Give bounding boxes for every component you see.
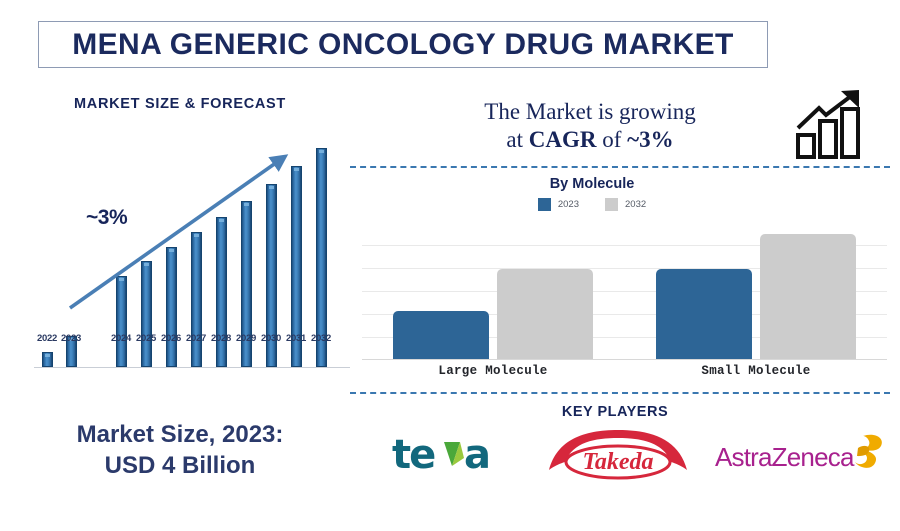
cagr-statement: The Market is growing at CAGR of ~3% bbox=[400, 98, 780, 154]
molecule-plot-area bbox=[362, 222, 887, 360]
molecule-category-label: Small Molecule bbox=[641, 364, 871, 378]
cagr-keyword: CAGR bbox=[529, 127, 597, 152]
legend-swatch bbox=[538, 198, 551, 211]
molecule-chart-legend: 20232032 bbox=[352, 198, 832, 211]
key-players-logo-row: te a Takeda AstraZeneca bbox=[390, 424, 890, 484]
molecule-bar bbox=[760, 234, 856, 359]
astrazeneca-logo-mark: AstraZeneca bbox=[715, 430, 890, 478]
molecule-bar bbox=[393, 311, 489, 359]
forecast-bar bbox=[141, 261, 152, 367]
molecule-axis-line bbox=[362, 359, 887, 360]
cagr-value: ~3% bbox=[627, 127, 673, 152]
molecule-category-label: Large Molecule bbox=[378, 364, 608, 378]
molecule-bar bbox=[497, 269, 593, 359]
key-players-title: KEY PLAYERS bbox=[460, 404, 770, 420]
forecast-bar bbox=[42, 352, 53, 367]
molecule-bar bbox=[656, 269, 752, 359]
forecast-year-label: 2023 bbox=[54, 333, 88, 344]
teva-logo-mark: te a bbox=[390, 428, 520, 480]
cagr-middle: of bbox=[596, 127, 627, 152]
legend-swatch bbox=[605, 198, 618, 211]
chart-baseline bbox=[34, 367, 350, 368]
page-title: MENA GENERIC ONCOLOGY DRUG MARKET bbox=[72, 28, 734, 62]
by-molecule-chart: By Molecule 20232032 Large MoleculeSmall… bbox=[352, 174, 892, 390]
page-title-box: MENA GENERIC ONCOLOGY DRUG MARKET bbox=[38, 21, 768, 68]
market-size-line-2: USD 4 Billion bbox=[30, 451, 330, 482]
forecast-bar bbox=[166, 247, 177, 367]
forecast-bar bbox=[216, 217, 227, 367]
svg-text:a: a bbox=[464, 432, 489, 478]
cagr-line-1: The Market is growing bbox=[400, 98, 780, 126]
astrazeneca-logo: AstraZeneca bbox=[715, 425, 890, 483]
divider-bottom bbox=[350, 392, 890, 394]
cagr-annotation-left: ~3% bbox=[86, 206, 127, 230]
svg-text:AstraZeneca: AstraZeneca bbox=[715, 442, 855, 472]
market-size-line-1: Market Size, 2023: bbox=[30, 420, 330, 451]
legend-label: 2023 bbox=[558, 199, 579, 210]
left-chart-title: MARKET SIZE & FORECAST bbox=[20, 96, 340, 112]
legend-label: 2032 bbox=[625, 199, 646, 210]
teva-logo: te a bbox=[390, 425, 520, 483]
market-size-statement: Market Size, 2023: USD 4 Billion bbox=[30, 420, 330, 481]
market-size-forecast-chart: ~3% bbox=[34, 128, 350, 368]
molecule-chart-title: By Molecule bbox=[352, 176, 832, 192]
takeda-logo: Takeda bbox=[543, 425, 693, 483]
bar-chart-growth-icon bbox=[793, 88, 875, 160]
legend-entry: 2023 bbox=[538, 198, 579, 211]
svg-text:te: te bbox=[392, 432, 435, 478]
takeda-logo-mark: Takeda bbox=[543, 426, 693, 482]
forecast-year-label: 2032 bbox=[304, 333, 338, 344]
market-size-forecast-panel: MARKET SIZE & FORECAST ~3% 2022202320242… bbox=[20, 88, 350, 398]
divider-top bbox=[350, 166, 890, 168]
forecast-bar bbox=[116, 276, 127, 367]
legend-entry: 2032 bbox=[605, 198, 646, 211]
svg-text:Takeda: Takeda bbox=[582, 449, 653, 475]
forecast-bar bbox=[191, 232, 202, 367]
cagr-line-2: at CAGR of ~3% bbox=[400, 126, 780, 154]
cagr-prefix: at bbox=[506, 127, 528, 152]
